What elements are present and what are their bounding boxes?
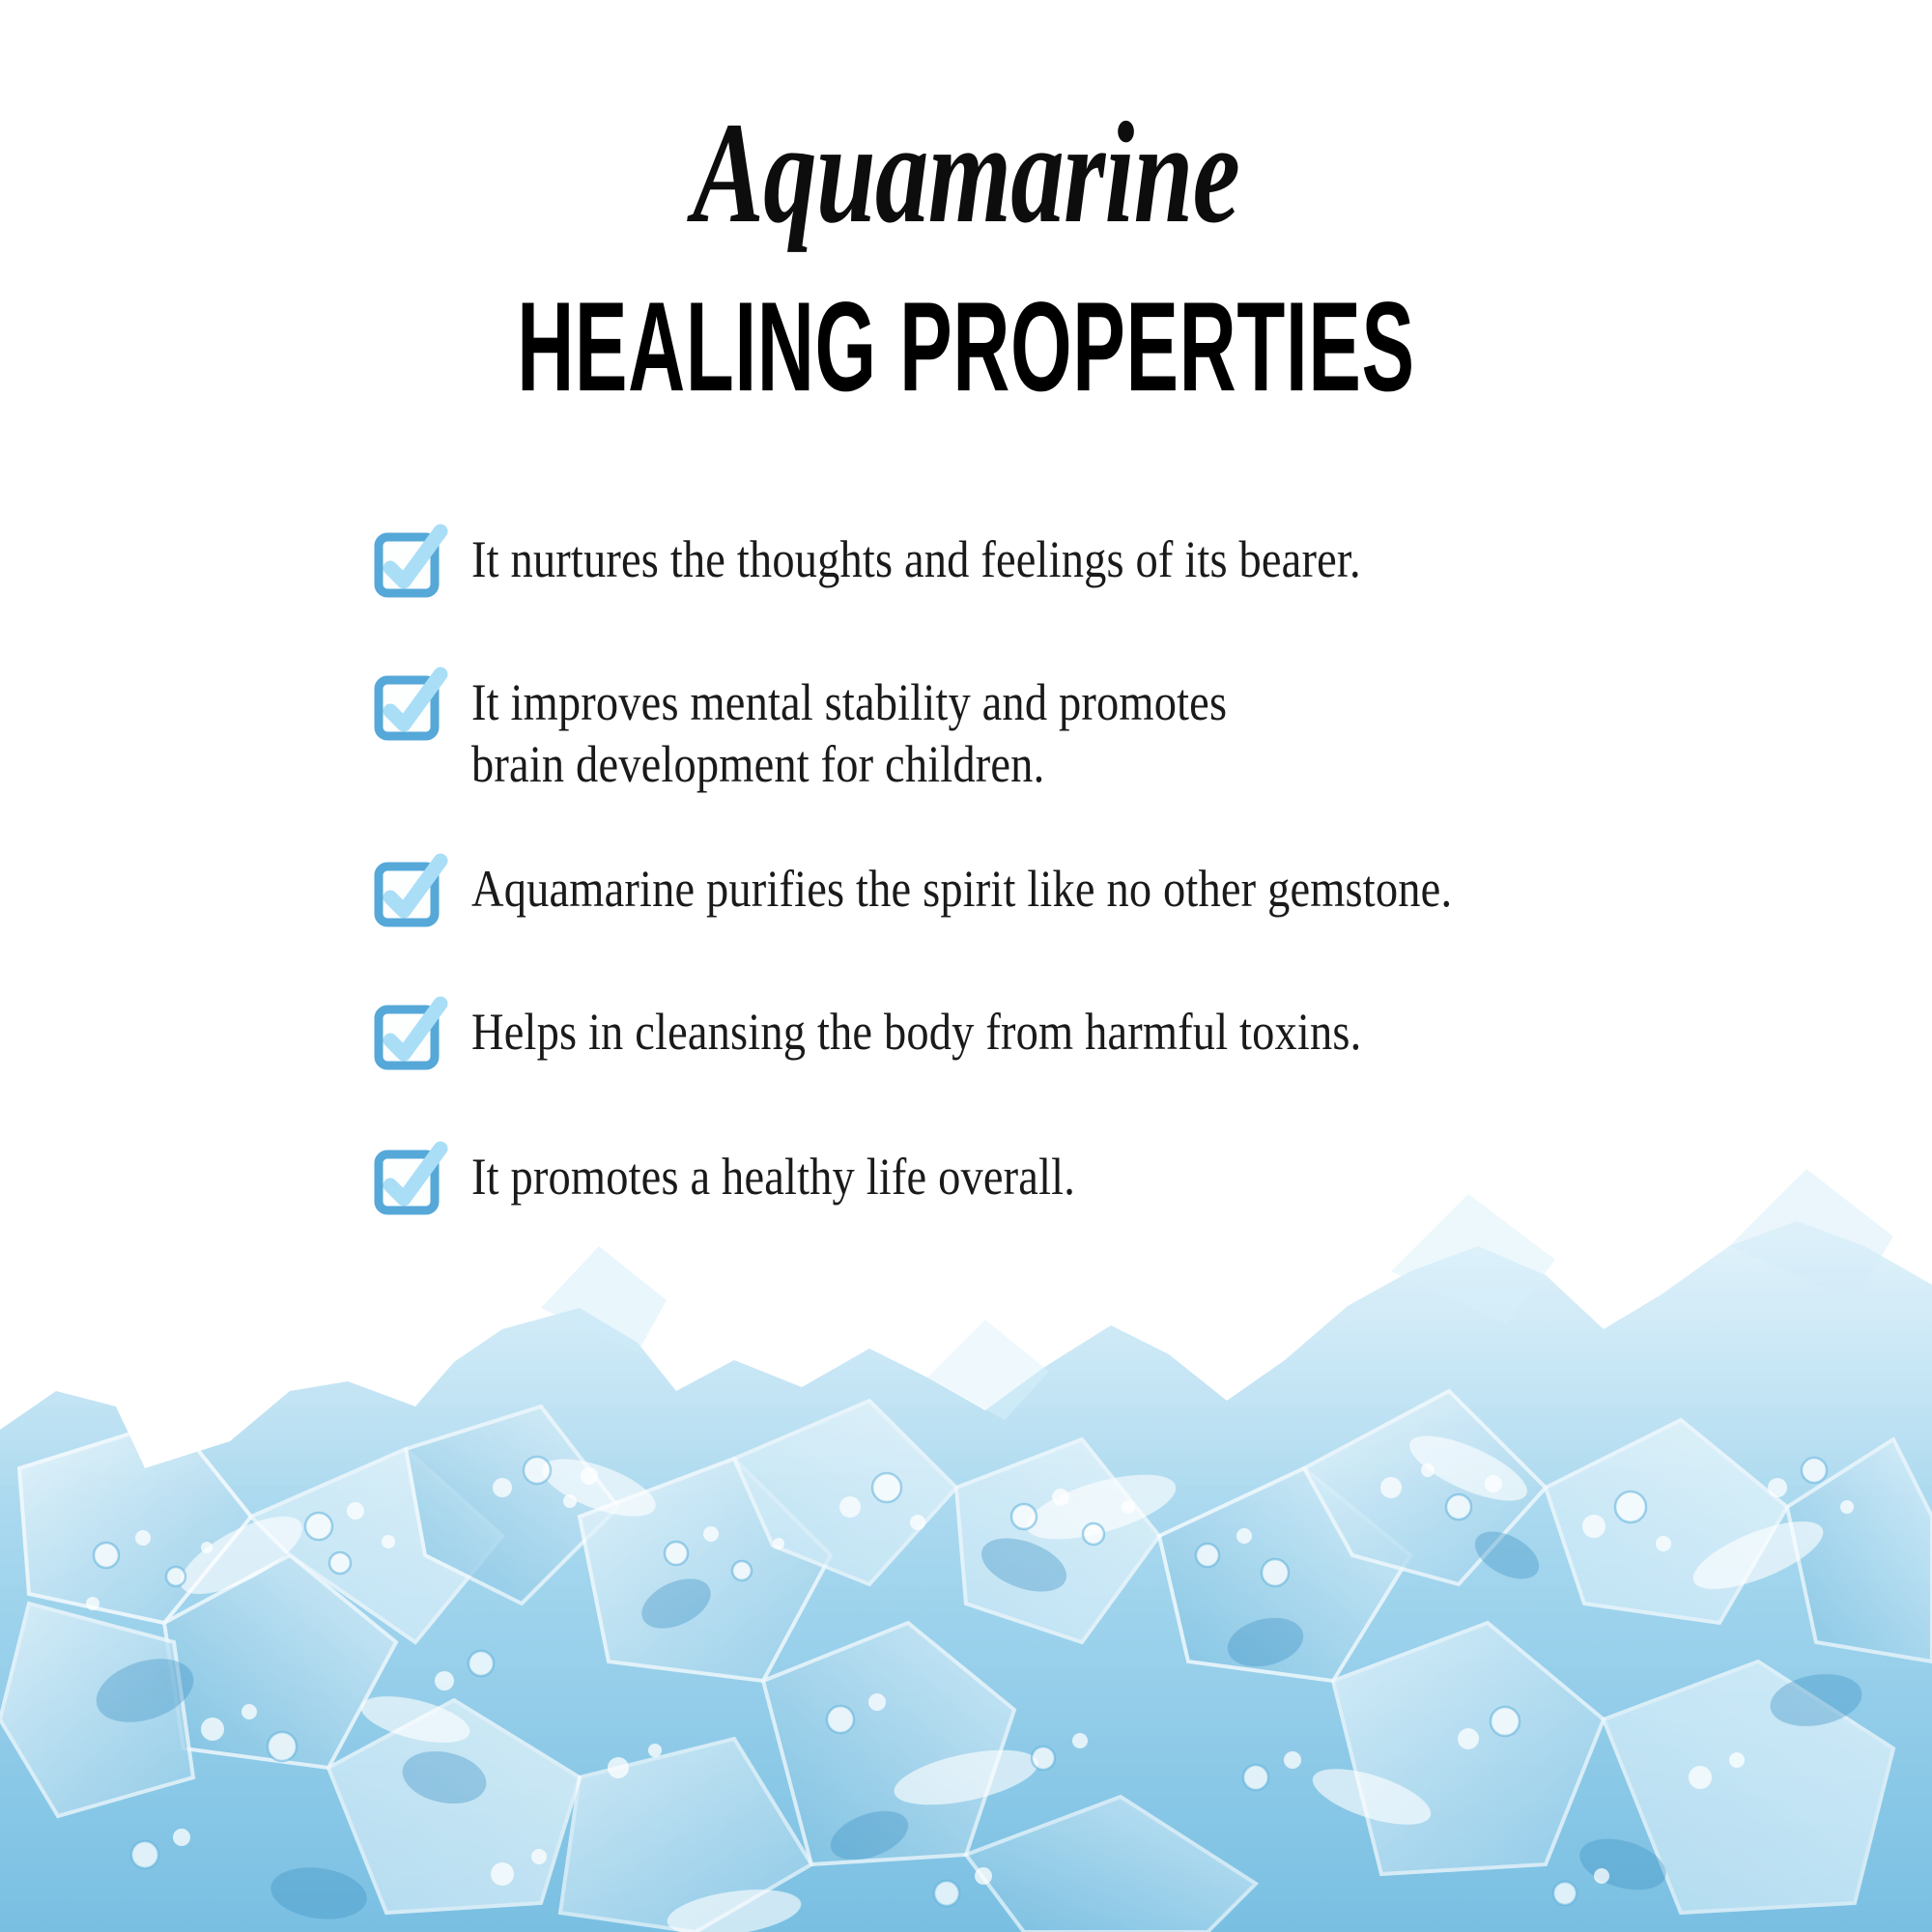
list-item-label: Helps in cleansing the body from harmful… bbox=[471, 1002, 1361, 1064]
list-item: Aquamarine purifies the spirit like no o… bbox=[375, 859, 1882, 924]
checked-checkbox-icon bbox=[375, 678, 435, 738]
list-item: It improves mental stability and promote… bbox=[375, 672, 1882, 795]
list-item-label: It nurtures the thoughts and feelings of… bbox=[471, 529, 1361, 591]
poster-canvas: Aquamarine HEALING PROPERTIES It nurture… bbox=[0, 0, 1932, 1932]
checked-checkbox-icon bbox=[375, 865, 435, 924]
checked-checkbox-icon bbox=[375, 1152, 435, 1212]
list-item: Helps in cleansing the body from harmful… bbox=[375, 1002, 1882, 1067]
ice-cubes-photo bbox=[0, 1101, 1932, 1932]
list-item-label: It improves mental stability and promote… bbox=[471, 672, 1227, 795]
list-item-label: Aquamarine purifies the spirit like no o… bbox=[471, 859, 1452, 921]
list-item: It promotes a healthy life overall. bbox=[375, 1147, 1882, 1212]
list-item-label: It promotes a healthy life overall. bbox=[471, 1147, 1075, 1208]
list-item: It nurtures the thoughts and feelings of… bbox=[375, 529, 1882, 595]
checked-checkbox-icon bbox=[375, 535, 435, 595]
checked-checkbox-icon bbox=[375, 1008, 435, 1067]
header: Aquamarine HEALING PROPERTIES bbox=[0, 0, 1932, 398]
healing-properties-list: It nurtures the thoughts and feelings of… bbox=[375, 529, 1882, 1212]
page-subtitle: HEALING PROPERTIES bbox=[319, 245, 1613, 411]
page-title: Aquamarine bbox=[251, 0, 1681, 245]
